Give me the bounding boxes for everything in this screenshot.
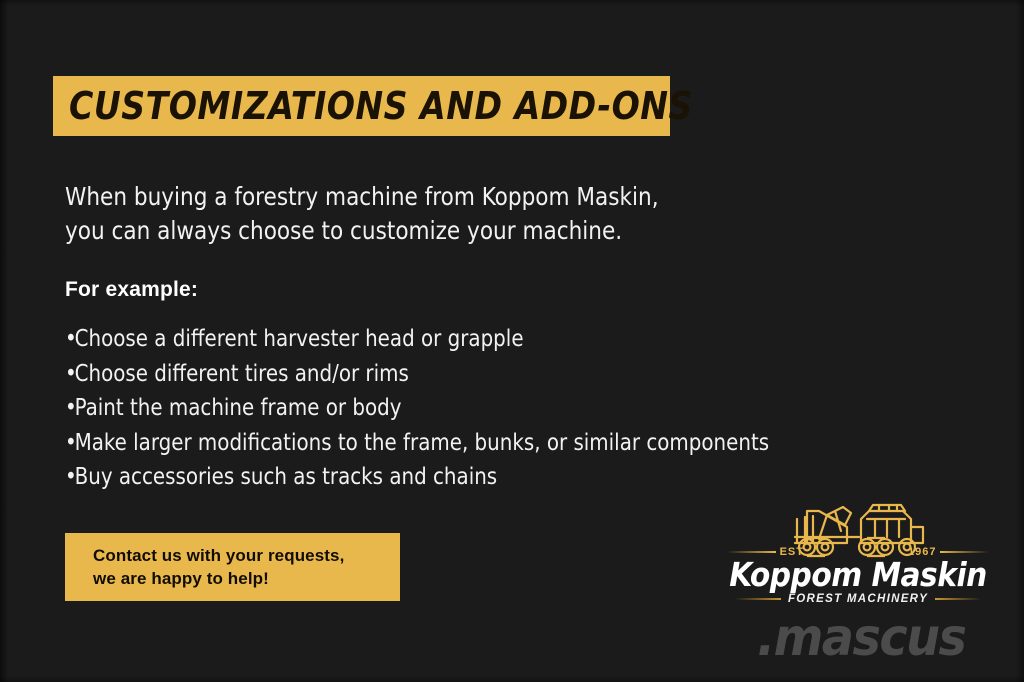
logo-tagline-rule-left xyxy=(735,598,781,600)
contact-cta-box[interactable]: Contact us with your requests, we are ha… xyxy=(65,533,400,601)
list-item: •Make larger modifications to the frame,… xyxy=(65,426,795,461)
intro-line-2: you can always choose to customize your … xyxy=(65,214,737,248)
list-item: •Paint the machine frame or body xyxy=(65,391,795,426)
bullet-icon: • xyxy=(65,357,75,392)
list-item-label: Choose different tires and/or rims xyxy=(75,361,409,387)
bullet-icon: • xyxy=(65,322,75,357)
for-example-heading: For example: xyxy=(65,277,198,303)
list-item-label: Paint the machine frame or body xyxy=(75,395,402,421)
customization-options-list: •Choose a different harvester head or gr… xyxy=(65,322,795,495)
bullet-icon: • xyxy=(65,426,75,461)
koppom-maskin-logo: EST 1967 Koppom Maskin FOREST MACHINERY xyxy=(727,497,989,609)
list-item: •Choose different tires and/or rims xyxy=(65,357,795,392)
page-title: CUSTOMIZATIONS AND ADD-ONS xyxy=(69,87,693,125)
title-banner: CUSTOMIZATIONS AND ADD-ONS xyxy=(53,76,670,136)
bullet-icon: • xyxy=(65,460,75,495)
promotional-slide: CUSTOMIZATIONS AND ADD-ONS When buying a… xyxy=(0,0,1024,682)
bullet-icon: • xyxy=(65,391,75,426)
cta-line-1: Contact us with your requests, xyxy=(93,544,400,567)
intro-line-1: When buying a forestry machine from Kopp… xyxy=(65,180,737,214)
logo-tagline-rule-right xyxy=(935,598,981,600)
cta-line-2: we are happy to help! xyxy=(93,567,400,590)
logo-rule-right xyxy=(940,551,989,553)
logo-tagline: FOREST MACHINERY xyxy=(788,593,928,605)
logo-brand-name: Koppom Maskin xyxy=(727,557,989,593)
logo-tagline-row: FOREST MACHINERY xyxy=(735,592,981,606)
list-item: •Choose a different harvester head or gr… xyxy=(65,322,795,357)
list-item-label: Make larger modifications to the frame, … xyxy=(75,430,769,456)
logo-rule-left xyxy=(727,551,776,553)
list-item-label: Choose a different harvester head or gra… xyxy=(75,326,524,352)
list-item-label: Buy accessories such as tracks and chain… xyxy=(75,464,498,490)
intro-paragraph: When buying a forestry machine from Kopp… xyxy=(65,180,737,248)
mascus-watermark: .mascus xyxy=(757,612,965,664)
list-item: •Buy accessories such as tracks and chai… xyxy=(65,460,795,495)
